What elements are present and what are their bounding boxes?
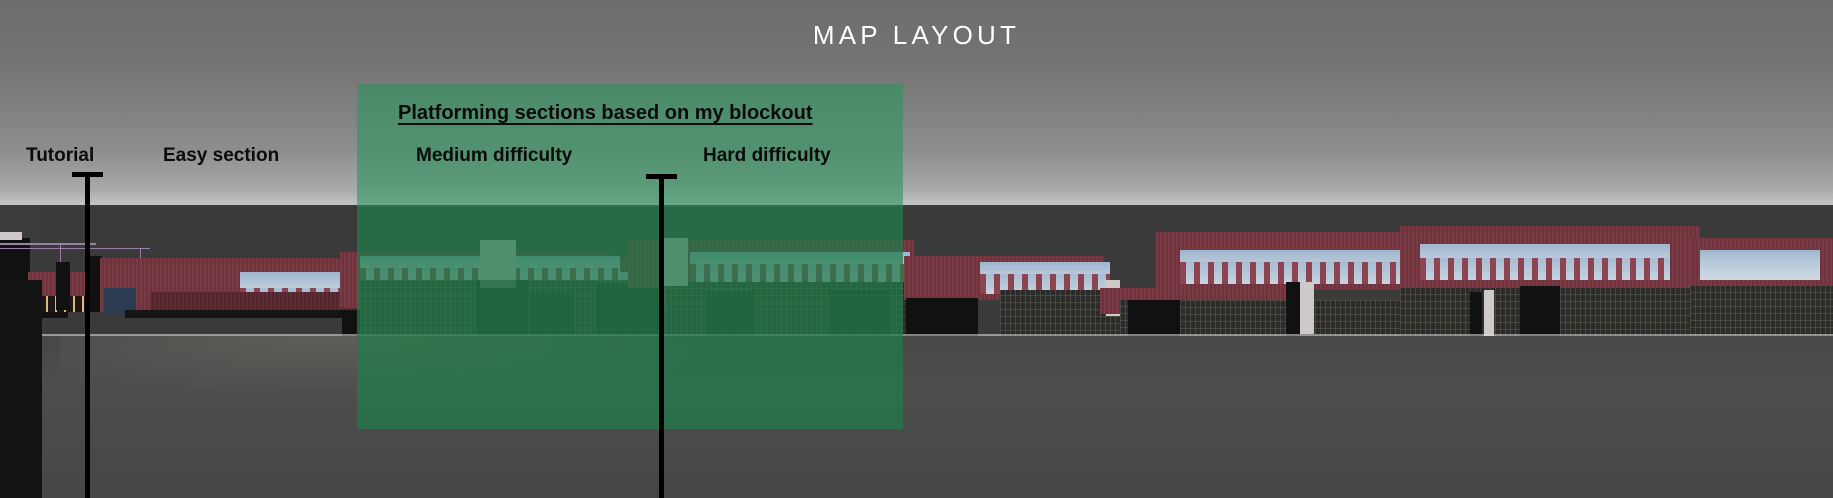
marker-stem: [85, 172, 90, 498]
guide-line: [0, 248, 150, 249]
platforming-highlight-overlay: [357, 84, 903, 429]
building-block: [1286, 282, 1300, 338]
tower-block: [1300, 282, 1314, 334]
small-skyline: [1180, 262, 1400, 284]
city-sky-panel: [1700, 250, 1820, 280]
small-skyline: [1420, 258, 1670, 280]
section-label-easy: Easy section: [163, 145, 279, 167]
overlay-lower-tint: [357, 207, 903, 429]
page-title: MAP LAYOUT: [0, 20, 1833, 51]
left-foreground-block: [0, 280, 42, 498]
map-layout-screenshot: MAP LAYOUT Platforming sections based on…: [0, 0, 1833, 498]
section-label-medium: Medium difficulty: [416, 145, 572, 167]
platforming-note: Platforming sections based on my blockou…: [398, 102, 813, 125]
section-label-tutorial: Tutorial: [26, 145, 94, 167]
guide-line: [0, 243, 96, 245]
building-block: [56, 262, 70, 310]
building-block: [0, 232, 22, 240]
marker-stem: [659, 174, 664, 498]
section-label-hard: Hard difficulty: [703, 145, 831, 167]
